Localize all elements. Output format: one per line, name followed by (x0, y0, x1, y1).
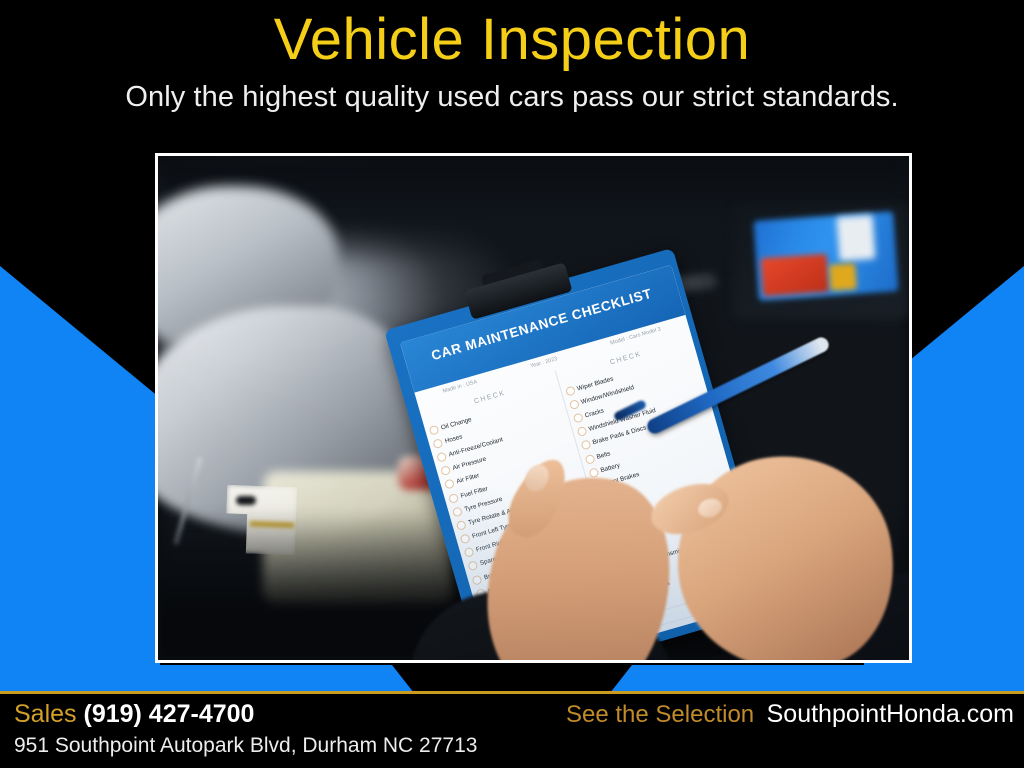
checkbox-circle-icon[interactable] (564, 385, 575, 396)
hero-photo-frame: CAR MAINTENANCE CHECKLIST Made in : USA … (155, 153, 912, 663)
checkbox-circle-icon[interactable] (432, 438, 443, 449)
ad-canvas: Vehicle Inspection Only the highest qual… (0, 0, 1024, 768)
checkbox-circle-icon[interactable] (576, 426, 587, 437)
checkbox-circle-icon[interactable] (568, 399, 579, 410)
blue-left-shape (0, 248, 160, 673)
checklist-item-label: Belts (596, 450, 611, 461)
header-block: Vehicle Inspection Only the highest qual… (0, 0, 1024, 150)
footer-phone[interactable]: (919) 427-4700 (84, 700, 255, 728)
footer-see-selection-label: See the Selection (566, 701, 754, 728)
footer-sales-label: Sales (14, 700, 77, 728)
footer-block: Sales (919) 427-4700 951 Southpoint Auto… (0, 694, 1024, 768)
battery-label-white (837, 215, 876, 261)
checkbox-circle-icon[interactable] (460, 533, 471, 544)
blue-bar-notch (392, 665, 632, 693)
footer-address: 951 Southpoint Autopark Blvd, Durham NC … (14, 734, 477, 758)
checkbox-circle-icon[interactable] (572, 413, 583, 424)
page-title: Vehicle Inspection (0, 0, 1024, 71)
checkbox-circle-icon[interactable] (436, 452, 447, 463)
service-tag-hole (236, 496, 256, 505)
checkbox-circle-icon[interactable] (580, 440, 591, 451)
checkbox-circle-icon[interactable] (428, 424, 439, 435)
footer-contact: Sales (919) 427-4700 951 Southpoint Auto… (14, 700, 477, 758)
checklist-item-label: Hoses (444, 433, 463, 445)
battery-label-red (761, 254, 829, 297)
checkbox-circle-icon[interactable] (584, 453, 595, 464)
hero-photo: CAR MAINTENANCE CHECKLIST Made in : USA … (158, 156, 909, 660)
footer-website-group: See the Selection SouthpointHonda.com (566, 700, 1014, 729)
footer-website-link[interactable]: SouthpointHonda.com (767, 700, 1014, 728)
checkbox-circle-icon[interactable] (467, 561, 478, 572)
battery-label-yellow (829, 263, 857, 291)
checkbox-circle-icon[interactable] (444, 479, 455, 490)
checkbox-circle-icon[interactable] (452, 506, 463, 517)
checkbox-circle-icon[interactable] (440, 465, 451, 476)
checkbox-circle-icon[interactable] (448, 492, 459, 503)
page-subtitle: Only the highest quality used cars pass … (0, 71, 1024, 114)
checkbox-circle-icon[interactable] (464, 547, 475, 558)
checkbox-circle-icon[interactable] (456, 520, 467, 531)
checkbox-circle-icon[interactable] (471, 574, 482, 585)
footer-sales-line: Sales (919) 427-4700 (14, 700, 477, 729)
